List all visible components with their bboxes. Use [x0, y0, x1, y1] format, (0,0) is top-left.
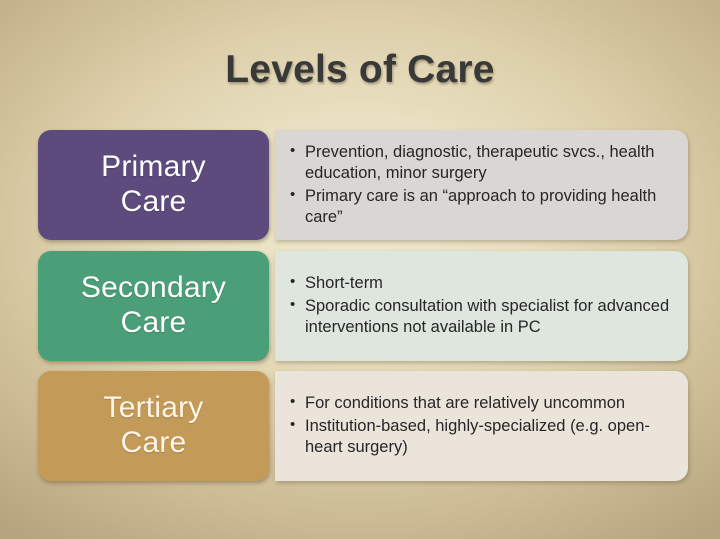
bullet-item: Sporadic consultation with specialist fo… — [289, 296, 670, 339]
bullet-list-tertiary: For conditions that are relatively uncom… — [289, 393, 670, 459]
bullet-item: Prevention, diagnostic, therapeutic svcs… — [289, 142, 670, 185]
care-level-row-tertiary: TertiaryCare For conditions that are rel… — [38, 371, 688, 481]
level-label-line2-secondary: Care — [121, 306, 187, 339]
level-label-text-secondary: SecondaryCare — [75, 271, 232, 341]
level-label-line2-tertiary: Care — [121, 426, 187, 459]
level-label-box-tertiary: TertiaryCare — [38, 371, 269, 481]
level-content-panel-secondary: Short-term Sporadic consultation with sp… — [275, 251, 688, 361]
level-label-line1-secondary: Secondary — [81, 271, 226, 304]
level-label-text-primary: PrimaryCare — [95, 150, 212, 220]
bullet-item: Institution-based, highly-specialized (e… — [289, 416, 670, 459]
level-label-box-primary: PrimaryCare — [38, 130, 269, 240]
bullet-list-primary: Prevention, diagnostic, therapeutic svcs… — [289, 142, 670, 230]
level-content-panel-tertiary: For conditions that are relatively uncom… — [275, 371, 688, 481]
level-label-text-tertiary: TertiaryCare — [98, 391, 210, 461]
level-label-line2-primary: Care — [121, 185, 187, 218]
level-label-box-secondary: SecondaryCare — [38, 251, 269, 361]
bullet-item: Short-term — [289, 273, 670, 294]
level-label-line1-primary: Primary — [101, 150, 206, 183]
bullet-item: Primary care is an “approach to providin… — [289, 186, 670, 229]
slide-canvas: Levels of Care PrimaryCare Prevention, d… — [0, 0, 720, 539]
care-level-row-primary: PrimaryCare Prevention, diagnostic, ther… — [38, 130, 688, 240]
care-level-row-secondary: SecondaryCare Short-term Sporadic consul… — [38, 251, 688, 361]
bullet-item: For conditions that are relatively uncom… — [289, 393, 670, 414]
level-label-line1-tertiary: Tertiary — [104, 391, 204, 424]
bullet-list-secondary: Short-term Sporadic consultation with sp… — [289, 273, 670, 339]
page-title: Levels of Care — [0, 48, 720, 92]
level-content-panel-primary: Prevention, diagnostic, therapeutic svcs… — [275, 130, 688, 240]
